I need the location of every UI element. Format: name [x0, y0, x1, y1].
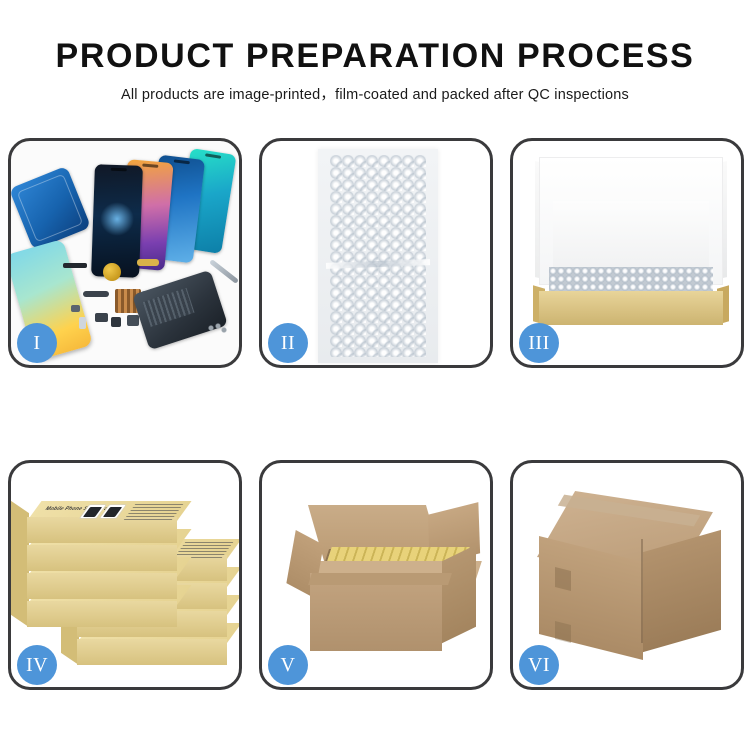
notch-icon	[111, 168, 127, 172]
carton-edge-seam	[641, 539, 643, 643]
page-subtitle: All products are image-printed，film-coat…	[0, 85, 750, 105]
process-step-3: III	[510, 138, 744, 368]
process-step-4: Mobile Phone Spare Parts	[8, 460, 242, 690]
step-badge-5: V	[268, 645, 308, 685]
product-preparation-infographic: PRODUCT PREPARATION PROCESS All products…	[0, 0, 750, 750]
header: PRODUCT PREPARATION PROCESS All products…	[0, 0, 750, 105]
box-front	[27, 601, 177, 627]
step-badge-3: III	[519, 323, 559, 363]
notch-icon	[205, 153, 221, 158]
box-inner-wall	[553, 201, 709, 273]
process-step-grid: I II III	[8, 138, 742, 690]
process-step-6: VI	[510, 460, 744, 690]
open-carton-icon	[288, 497, 476, 665]
kraft-box-icon	[77, 639, 227, 665]
step-badge-2: II	[268, 323, 308, 363]
spare-part-icon	[71, 305, 80, 312]
box-front	[27, 545, 177, 571]
spare-part-icon	[127, 315, 139, 326]
box-front	[77, 639, 227, 665]
spare-part-icon	[95, 313, 108, 322]
sealed-carton-icon	[537, 491, 723, 665]
notch-icon	[142, 163, 158, 167]
kraft-box-stack: Mobile Phone Spare Parts	[21, 481, 235, 677]
flex-cable-icon	[83, 291, 109, 297]
carton-side	[442, 545, 476, 644]
carton-front-flap	[308, 573, 452, 585]
label-spec-lines	[174, 542, 234, 558]
phone-back-housing-icon	[132, 270, 228, 351]
kraft-box-icon	[27, 573, 177, 599]
notch-icon	[174, 159, 190, 164]
box-label: Mobile Phone Spare Parts	[33, 503, 188, 521]
step-badge-4: IV	[17, 645, 57, 685]
kraft-box-icon	[27, 545, 177, 571]
process-step-5: V	[259, 460, 493, 690]
step-badge-1: I	[17, 323, 57, 363]
phone-screen-icon	[91, 164, 143, 278]
flex-cable-icon	[137, 259, 159, 266]
phone-fan-group	[71, 149, 239, 274]
carton-tab	[555, 621, 571, 643]
kraft-box-icon	[27, 601, 177, 627]
box-tray-shading	[539, 291, 723, 325]
bubble-wrap-icon	[330, 155, 426, 357]
process-step-1: I	[8, 138, 242, 368]
step-badge-6: VI	[519, 645, 559, 685]
carton-side	[643, 530, 721, 652]
label-spec-lines	[124, 504, 184, 520]
spare-part-icon	[79, 317, 86, 329]
spare-part-icon	[63, 263, 87, 268]
spare-part-icon	[111, 317, 121, 327]
copper-coil-icon	[103, 263, 121, 281]
page-title: PRODUCT PREPARATION PROCESS	[0, 36, 750, 76]
carton-tab	[555, 567, 571, 591]
screws-icon	[207, 323, 227, 333]
box-front	[27, 573, 177, 599]
kraft-box-icon: Mobile Phone Spare Parts	[27, 517, 177, 543]
process-step-2: II	[259, 138, 493, 368]
